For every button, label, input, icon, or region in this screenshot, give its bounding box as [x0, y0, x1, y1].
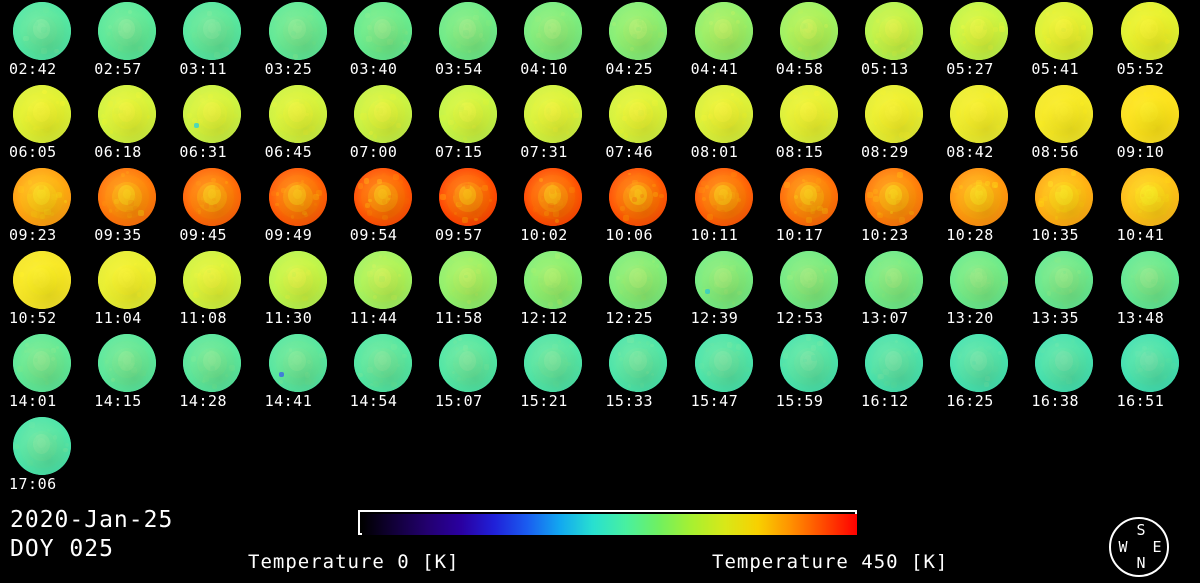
disk-image — [170, 251, 255, 310]
disk-shading — [524, 251, 582, 309]
frame-time-label: 11:58 — [435, 310, 511, 327]
planet-disk — [439, 85, 497, 143]
disk-frame[interactable]: 15:21 — [511, 332, 596, 415]
disk-shading — [865, 2, 923, 60]
disk-shading — [609, 85, 667, 143]
disk-shading — [780, 334, 838, 392]
frame-time-label: 16:38 — [1031, 393, 1107, 410]
planet-disk — [13, 251, 71, 309]
disk-frame[interactable]: 06:05 — [0, 83, 85, 166]
disk-frame[interactable]: 10:28 — [937, 166, 1022, 249]
frame-time-label: 07:31 — [520, 144, 596, 161]
disk-image — [0, 334, 85, 393]
disk-shading — [354, 85, 412, 143]
disk-shading — [269, 2, 327, 60]
disk-shading — [524, 85, 582, 143]
planet-disk — [13, 2, 71, 60]
planet-disk — [13, 417, 71, 475]
disk-image — [511, 168, 596, 227]
frame-time-label: 14:54 — [350, 393, 426, 410]
planet-disk — [269, 251, 327, 309]
disk-shading — [13, 168, 71, 226]
frame-time-label: 03:54 — [435, 61, 511, 78]
frame-time-label: 08:29 — [861, 144, 937, 161]
planet-disk — [269, 168, 327, 226]
frame-time-label: 10:02 — [520, 227, 596, 244]
disk-frame[interactable]: 02:57 — [85, 0, 170, 83]
compass-rose: S W E N — [1109, 517, 1169, 577]
frame-time-label: 14:01 — [9, 393, 85, 410]
disk-frame[interactable]: 16:12 — [852, 332, 937, 415]
frame-time-label: 07:00 — [350, 144, 426, 161]
disk-shading — [13, 417, 71, 475]
planet-disk — [183, 85, 241, 143]
disk-shading — [1121, 334, 1179, 392]
frame-time-label: 03:25 — [265, 61, 341, 78]
disk-shading — [13, 85, 71, 143]
disk-frame[interactable]: 05:52 — [1108, 0, 1193, 83]
disk-shading — [13, 251, 71, 309]
disk-image — [256, 85, 341, 144]
frame-time-label: 09:35 — [94, 227, 170, 244]
frame-time-label: 15:33 — [605, 393, 681, 410]
planet-disk — [98, 251, 156, 309]
disk-frame[interactable]: 13:48 — [1108, 249, 1193, 332]
frame-time-label: 11:44 — [350, 310, 426, 327]
disk-image — [256, 251, 341, 310]
disk-image — [682, 168, 767, 227]
disk-frame[interactable]: 11:30 — [256, 249, 341, 332]
disk-frame[interactable]: 08:15 — [767, 83, 852, 166]
disk-image — [1108, 2, 1193, 61]
disk-image — [767, 251, 852, 310]
frame-row: 17:06 — [0, 415, 1200, 498]
planet-disk — [609, 334, 667, 392]
disk-image — [85, 85, 170, 144]
disk-shading — [950, 334, 1008, 392]
disk-frame[interactable]: 16:38 — [1022, 332, 1107, 415]
planet-disk — [13, 334, 71, 392]
disk-shading — [183, 168, 241, 226]
frame-time-label: 06:18 — [94, 144, 170, 161]
disk-image — [852, 85, 937, 144]
frame-time-label: 09:45 — [179, 227, 255, 244]
disk-image — [937, 334, 1022, 393]
disk-frame[interactable]: 08:56 — [1022, 83, 1107, 166]
compass-north-label: N — [1133, 556, 1149, 571]
frame-time-label: 09:10 — [1117, 144, 1193, 161]
planet-disk — [98, 2, 156, 60]
disk-image — [256, 2, 341, 61]
disk-frame[interactable]: 15:59 — [767, 332, 852, 415]
frame-time-label: 05:41 — [1031, 61, 1107, 78]
disk-frame[interactable]: 11:58 — [426, 249, 511, 332]
disk-shading — [439, 85, 497, 143]
planet-disk — [354, 251, 412, 309]
frame-time-label: 12:25 — [605, 310, 681, 327]
disk-frame[interactable]: 05:27 — [937, 0, 1022, 83]
disk-image — [426, 2, 511, 61]
disk-frame[interactable]: 05:13 — [852, 0, 937, 83]
disk-shading — [98, 2, 156, 60]
disk-image — [596, 85, 681, 144]
planet-disk — [98, 168, 156, 226]
disk-image — [852, 2, 937, 61]
disk-image — [426, 168, 511, 227]
disk-shading — [695, 2, 753, 60]
disk-frame[interactable]: 07:46 — [596, 83, 681, 166]
disk-image — [1108, 168, 1193, 227]
disk-shading — [1035, 2, 1093, 60]
disk-frame[interactable]: 10:17 — [767, 166, 852, 249]
planet-disk — [609, 251, 667, 309]
planet-disk — [950, 251, 1008, 309]
planet-disk — [183, 251, 241, 309]
planet-disk — [183, 2, 241, 60]
disk-image — [852, 251, 937, 310]
disk-frame[interactable]: 14:01 — [0, 332, 85, 415]
disk-frame[interactable]: 06:31 — [170, 83, 255, 166]
frame-time-label: 11:30 — [265, 310, 341, 327]
frame-time-label: 06:45 — [265, 144, 341, 161]
disk-frame[interactable]: 03:54 — [426, 0, 511, 83]
planet-disk — [269, 2, 327, 60]
disk-frame[interactable]: 13:35 — [1022, 249, 1107, 332]
disk-image — [682, 334, 767, 393]
planet-disk — [183, 168, 241, 226]
disk-shading — [524, 2, 582, 60]
frame-time-label: 17:06 — [9, 476, 85, 493]
frame-time-label: 09:54 — [350, 227, 426, 244]
frame-time-label: 11:04 — [94, 310, 170, 327]
disk-frame[interactable]: 06:45 — [256, 83, 341, 166]
planet-disk — [183, 334, 241, 392]
disk-shading — [865, 334, 923, 392]
disk-shading — [98, 334, 156, 392]
frame-time-label: 10:52 — [9, 310, 85, 327]
frame-time-label: 15:21 — [520, 393, 596, 410]
disk-frame[interactable]: 14:28 — [170, 332, 255, 415]
frame-time-label: 14:28 — [179, 393, 255, 410]
date-label: 2020-Jan-25 — [10, 507, 173, 533]
frame-time-label: 10:28 — [946, 227, 1022, 244]
planet-disk — [609, 168, 667, 226]
disk-shading — [183, 251, 241, 309]
planet-disk — [950, 85, 1008, 143]
disk-shading — [183, 334, 241, 392]
colorbar-max-label: Temperature 450 [K] — [712, 551, 948, 573]
disk-shading — [183, 2, 241, 60]
disk-image — [85, 334, 170, 393]
disk-frame[interactable]: 09:54 — [341, 166, 426, 249]
disk-image — [937, 2, 1022, 61]
planet-disk — [1121, 2, 1179, 60]
disk-image — [0, 85, 85, 144]
planet-disk — [780, 251, 838, 309]
frame-time-label: 09:57 — [435, 227, 511, 244]
disk-frame[interactable]: 16:51 — [1108, 332, 1193, 415]
planet-disk — [13, 168, 71, 226]
planet-disk — [98, 334, 156, 392]
disk-frame[interactable]: 10:41 — [1108, 166, 1193, 249]
frame-row: 06:0506:1806:3106:4507:0007:1507:3107:46… — [0, 83, 1200, 166]
frame-time-label: 05:27 — [946, 61, 1022, 78]
disk-frame[interactable]: 17:06 — [0, 415, 85, 498]
frame-time-label: 13:07 — [861, 310, 937, 327]
frame-row: 02:4202:5703:1103:2503:4003:5404:1004:25… — [0, 0, 1200, 83]
disk-image — [426, 85, 511, 144]
planet-disk — [1035, 251, 1093, 309]
disk-image — [511, 334, 596, 393]
planet-disk — [950, 2, 1008, 60]
planet-disk — [1035, 2, 1093, 60]
planet-disk — [865, 251, 923, 309]
disk-frame[interactable]: 13:07 — [852, 249, 937, 332]
disk-image — [596, 168, 681, 227]
disk-frame[interactable]: 09:35 — [85, 166, 170, 249]
disk-image — [1108, 251, 1193, 310]
frame-row: 09:2309:3509:4509:4909:5409:5710:0210:06… — [0, 166, 1200, 249]
disk-image — [1022, 334, 1107, 393]
disk-shading — [269, 251, 327, 309]
disk-frame[interactable]: 09:10 — [1108, 83, 1193, 166]
frame-row: 14:0114:1514:2814:4114:5415:0715:2115:33… — [0, 332, 1200, 415]
disk-frame[interactable]: 10:23 — [852, 166, 937, 249]
disk-frame[interactable]: 13:20 — [937, 249, 1022, 332]
disk-image — [682, 251, 767, 310]
disk-shading — [950, 2, 1008, 60]
disk-frame[interactable]: 10:02 — [511, 166, 596, 249]
disk-image — [256, 334, 341, 393]
disk-image — [596, 2, 681, 61]
disk-frame[interactable]: 11:44 — [341, 249, 426, 332]
disk-shading — [1035, 251, 1093, 309]
frame-time-label: 03:11 — [179, 61, 255, 78]
frame-time-label: 10:41 — [1117, 227, 1193, 244]
disk-shading — [1121, 168, 1179, 226]
disk-shading — [695, 251, 753, 309]
disk-shading — [950, 85, 1008, 143]
disk-shading — [865, 85, 923, 143]
planet-disk — [865, 85, 923, 143]
disk-image — [1022, 85, 1107, 144]
disk-image — [170, 85, 255, 144]
frame-time-label: 13:48 — [1117, 310, 1193, 327]
disk-shading — [13, 334, 71, 392]
disk-frame[interactable]: 14:54 — [341, 332, 426, 415]
disk-frame[interactable]: 10:11 — [682, 166, 767, 249]
planet-disk — [439, 168, 497, 226]
disk-frame[interactable]: 12:53 — [767, 249, 852, 332]
frame-time-label: 10:06 — [605, 227, 681, 244]
colorbar — [358, 510, 857, 535]
disk-frame[interactable]: 04:10 — [511, 0, 596, 83]
disk-frame[interactable]: 15:33 — [596, 332, 681, 415]
disk-frame[interactable]: 04:25 — [596, 0, 681, 83]
frame-time-label: 05:13 — [861, 61, 937, 78]
planet-disk — [950, 334, 1008, 392]
frame-time-label: 05:52 — [1117, 61, 1193, 78]
disk-frame[interactable]: 10:06 — [596, 166, 681, 249]
planet-disk — [354, 334, 412, 392]
disk-frame[interactable]: 12:12 — [511, 249, 596, 332]
frame-time-label: 12:53 — [776, 310, 852, 327]
disk-frame[interactable]: 12:39 — [682, 249, 767, 332]
disk-frame[interactable]: 16:25 — [937, 332, 1022, 415]
frame-time-label: 16:25 — [946, 393, 1022, 410]
disk-image — [767, 2, 852, 61]
disk-frame[interactable]: 07:00 — [341, 83, 426, 166]
planet-disk — [780, 334, 838, 392]
frame-time-label: 14:15 — [94, 393, 170, 410]
disk-frame[interactable]: 09:45 — [170, 166, 255, 249]
disk-image — [0, 251, 85, 310]
disk-image — [170, 2, 255, 61]
disk-frame[interactable]: 10:52 — [0, 249, 85, 332]
colorbar-min-label: Temperature 0 [K] — [248, 551, 459, 573]
frame-time-label: 04:58 — [776, 61, 852, 78]
disk-image — [511, 251, 596, 310]
frame-time-label: 11:08 — [179, 310, 255, 327]
planet-disk — [695, 168, 753, 226]
planet-disk — [354, 85, 412, 143]
disk-shading — [524, 334, 582, 392]
disk-frame[interactable]: 03:40 — [341, 0, 426, 83]
disk-image — [596, 334, 681, 393]
disk-image — [1022, 251, 1107, 310]
disk-shading — [1121, 251, 1179, 309]
planet-disk — [354, 168, 412, 226]
disk-frame[interactable]: 08:29 — [852, 83, 937, 166]
planet-disk — [524, 334, 582, 392]
disk-image — [341, 85, 426, 144]
disk-shading — [1121, 85, 1179, 143]
disk-frame[interactable]: 08:42 — [937, 83, 1022, 166]
frame-time-label: 10:17 — [776, 227, 852, 244]
disk-shading — [1035, 168, 1093, 226]
disk-frame[interactable]: 06:18 — [85, 83, 170, 166]
disk-frame[interactable]: 07:15 — [426, 83, 511, 166]
planet-disk — [780, 2, 838, 60]
disk-frame[interactable]: 07:31 — [511, 83, 596, 166]
disk-shading — [439, 251, 497, 309]
disk-image — [85, 168, 170, 227]
disk-frame[interactable]: 09:23 — [0, 166, 85, 249]
disk-image — [767, 334, 852, 393]
disk-image — [85, 2, 170, 61]
disk-frame[interactable]: 05:41 — [1022, 0, 1107, 83]
disk-frame[interactable]: 14:41 — [256, 332, 341, 415]
disk-frame[interactable]: 12:25 — [596, 249, 681, 332]
disk-shading — [950, 251, 1008, 309]
disk-image — [937, 85, 1022, 144]
planet-disk — [1121, 334, 1179, 392]
planet-disk — [865, 334, 923, 392]
planet-disk — [950, 168, 1008, 226]
disk-frame[interactable]: 09:49 — [256, 166, 341, 249]
planet-disk — [865, 2, 923, 60]
frame-time-label: 02:57 — [94, 61, 170, 78]
disk-frame[interactable]: 04:41 — [682, 0, 767, 83]
disk-frame[interactable]: 09:57 — [426, 166, 511, 249]
frame-time-label: 10:11 — [691, 227, 767, 244]
frame-time-label: 07:46 — [605, 144, 681, 161]
disk-shading — [780, 168, 838, 226]
planet-disk — [524, 85, 582, 143]
disk-shading — [609, 168, 667, 226]
frame-time-label: 04:25 — [605, 61, 681, 78]
planet-disk — [13, 85, 71, 143]
disk-image — [341, 334, 426, 393]
planet-disk — [695, 334, 753, 392]
disk-image — [1108, 85, 1193, 144]
disk-shading — [269, 168, 327, 226]
disk-shading — [524, 168, 582, 226]
disk-image — [852, 168, 937, 227]
disk-image — [682, 2, 767, 61]
disk-shading — [609, 2, 667, 60]
disk-image — [1022, 168, 1107, 227]
planet-disk — [439, 334, 497, 392]
disk-shading — [695, 85, 753, 143]
frame-time-label: 08:42 — [946, 144, 1022, 161]
disk-frame[interactable]: 10:35 — [1022, 166, 1107, 249]
disk-shading — [695, 168, 753, 226]
disk-frame[interactable]: 14:15 — [85, 332, 170, 415]
planet-disk — [524, 168, 582, 226]
frame-time-label: 16:12 — [861, 393, 937, 410]
disk-image — [256, 168, 341, 227]
disk-frame[interactable]: 15:07 — [426, 332, 511, 415]
planet-disk — [439, 251, 497, 309]
disk-image — [682, 85, 767, 144]
disk-frame[interactable]: 11:08 — [170, 249, 255, 332]
disk-shading — [780, 85, 838, 143]
frame-time-label: 15:59 — [776, 393, 852, 410]
disk-image — [937, 251, 1022, 310]
disk-shading — [439, 334, 497, 392]
disk-image — [0, 168, 85, 227]
frame-time-label: 13:35 — [1031, 310, 1107, 327]
frame-time-label: 09:23 — [9, 227, 85, 244]
frame-time-label: 06:31 — [179, 144, 255, 161]
planet-disk — [269, 334, 327, 392]
disk-shading — [354, 334, 412, 392]
disk-shading — [439, 168, 497, 226]
disk-shading — [183, 85, 241, 143]
frame-time-label: 10:35 — [1031, 227, 1107, 244]
disk-frame[interactable]: 08:01 — [682, 83, 767, 166]
disk-image — [937, 168, 1022, 227]
planet-disk — [354, 2, 412, 60]
disk-frame[interactable]: 15:47 — [682, 332, 767, 415]
planet-disk — [1121, 168, 1179, 226]
disk-image — [85, 251, 170, 310]
disk-image — [767, 85, 852, 144]
disk-shading — [354, 251, 412, 309]
disk-frame[interactable]: 03:25 — [256, 0, 341, 83]
disk-shading — [695, 334, 753, 392]
disk-frame[interactable]: 04:58 — [767, 0, 852, 83]
planet-disk — [439, 2, 497, 60]
disk-image — [426, 334, 511, 393]
disk-frame[interactable]: 02:42 — [0, 0, 85, 83]
frame-time-label: 08:15 — [776, 144, 852, 161]
planet-disk — [609, 2, 667, 60]
disk-image — [1022, 2, 1107, 61]
disk-frame[interactable]: 11:04 — [85, 249, 170, 332]
disk-frame[interactable]: 03:11 — [170, 0, 255, 83]
